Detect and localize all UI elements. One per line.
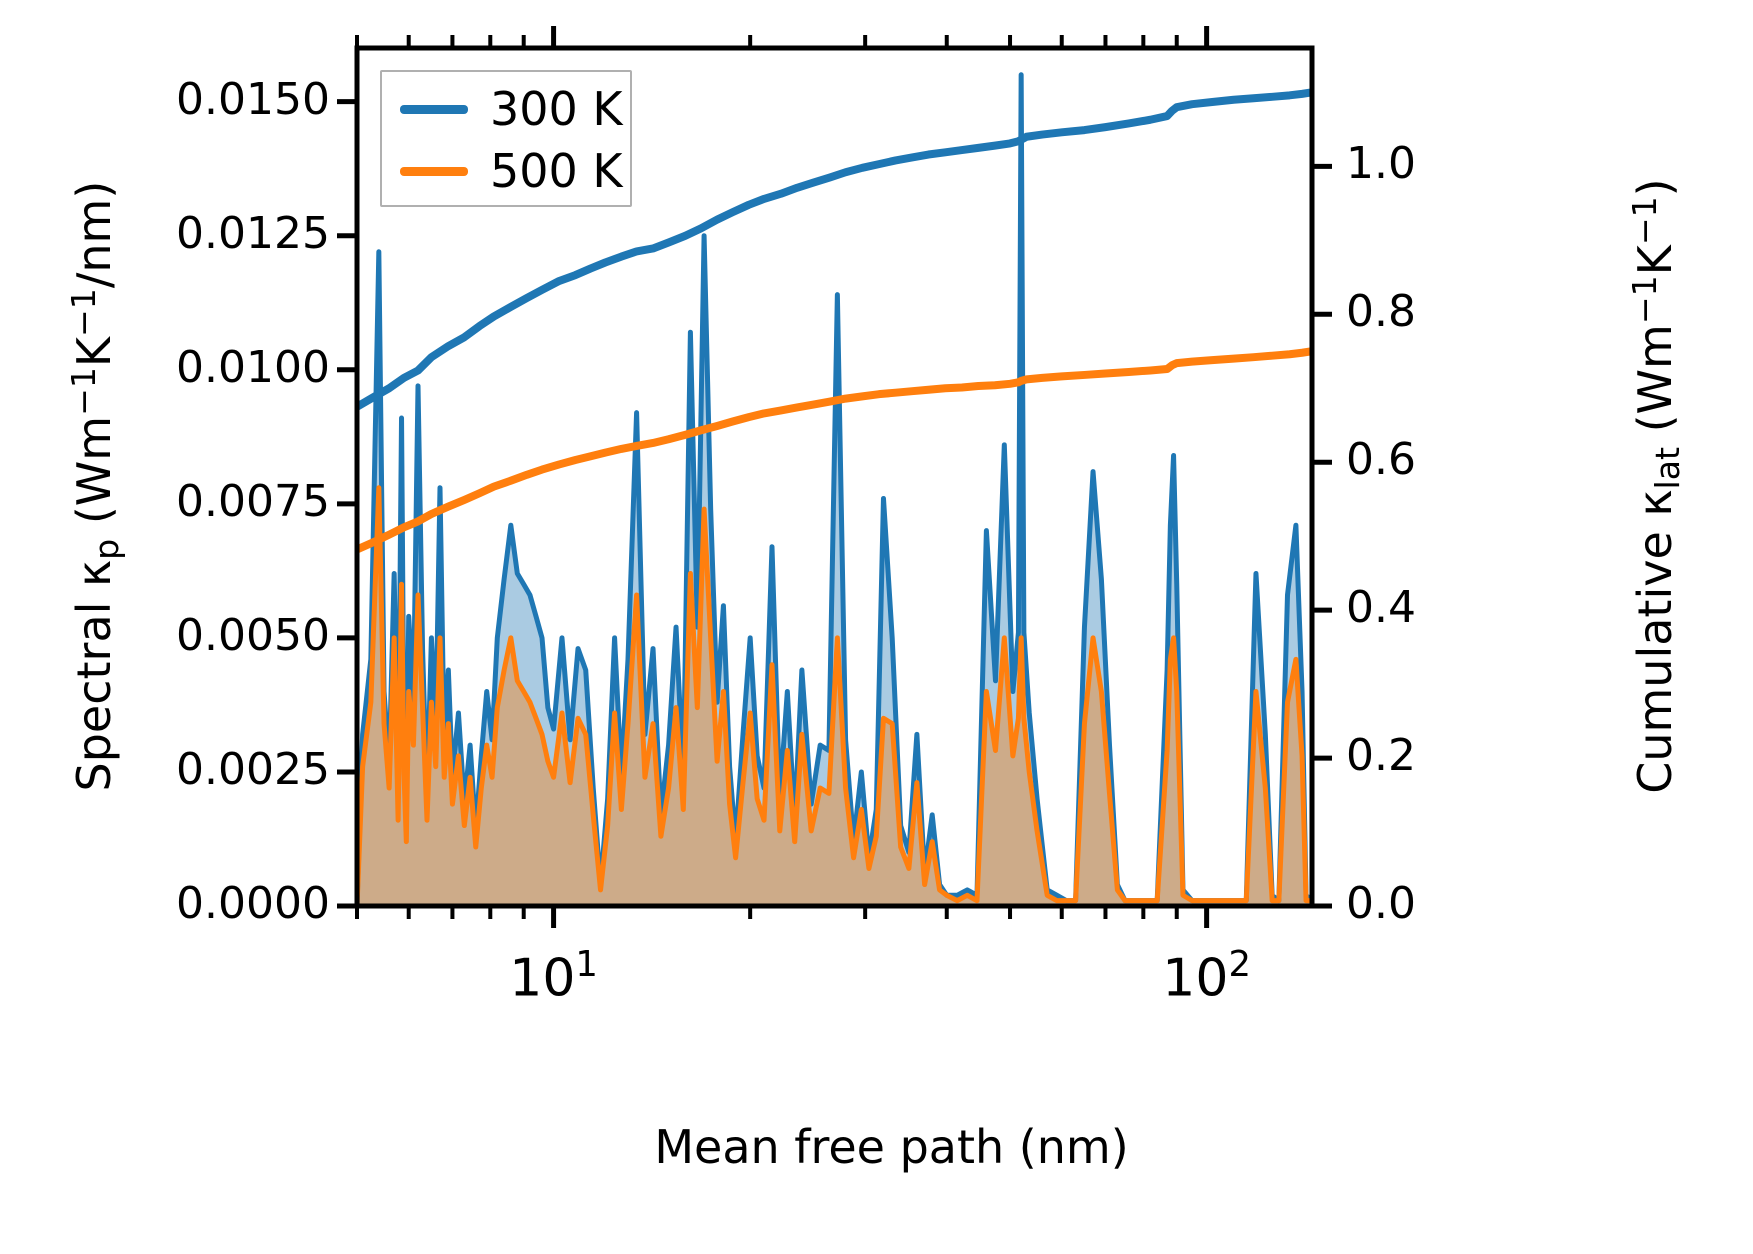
y-left-label-mid: K <box>67 337 121 367</box>
y-left-tick-2: 0.0050 <box>0 610 330 661</box>
y-right-label-close: ) <box>1628 178 1682 196</box>
line-swatch-icon <box>400 167 468 176</box>
y-right-tick-5: 1.0 <box>1346 138 1546 189</box>
y-right-tick-0: 0.0 <box>1346 878 1546 929</box>
legend-label-500k: 500 K <box>490 148 623 194</box>
y-right-label-mid: K <box>1628 245 1682 275</box>
x-tick-0: 101 <box>434 944 674 1008</box>
y-left-label-subscript: p <box>87 539 126 560</box>
y-left-tick-6: 0.0150 <box>0 74 330 125</box>
legend-label-300k: 300 K <box>490 86 623 132</box>
y-right-label-subscript: lat <box>1648 447 1687 489</box>
legend-item-300k[interactable]: 300 K <box>382 78 630 140</box>
figure-canvas: 0.00000.00250.00500.00750.01000.01250.01… <box>0 0 1753 1254</box>
y-right-label-unit-open: (Wm <box>1628 324 1682 447</box>
x-tick-base-1: 10 <box>1162 948 1228 1008</box>
x-tick-exponent-1: 2 <box>1228 944 1251 985</box>
legend-item-500k[interactable]: 500 K <box>382 140 630 202</box>
y-right-label-exp2: −1 <box>1625 196 1664 245</box>
y-right-tick-2: 0.4 <box>1346 582 1546 633</box>
y-right-tick-3: 0.6 <box>1346 434 1546 485</box>
y-left-tick-3: 0.0075 <box>0 476 330 527</box>
y-left-label-close: /nm) <box>67 181 121 288</box>
y-right-tick-4: 0.8 <box>1346 286 1546 337</box>
y-right-label-exp1: −1 <box>1625 275 1664 324</box>
y-left-tick-4: 0.0100 <box>0 342 330 393</box>
x-tick-base-0: 10 <box>509 948 575 1008</box>
legend[interactable]: 300 K 500 K <box>380 70 632 207</box>
x-tick-1: 102 <box>1087 944 1327 1008</box>
y-left-label-prefix: Spectral κ <box>67 560 121 792</box>
y-left-label-unit-open: (Wm <box>67 416 121 539</box>
y-left-tick-0: 0.0000 <box>0 878 330 929</box>
line-swatch-icon <box>400 105 468 114</box>
y-right-tick-1: 0.2 <box>1346 730 1546 781</box>
x-axis-label: Mean free path (nm) <box>0 1120 1753 1174</box>
y-left-tick-5: 0.0125 <box>0 208 330 259</box>
y-right-label-prefix: Cumulative κ <box>1628 490 1682 794</box>
x-tick-exponent-0: 1 <box>575 944 598 985</box>
y-axis-right-label: Cumulative κlat (Wm−1K−1) <box>1625 46 1687 926</box>
y-left-label-exp2: −1 <box>64 288 103 337</box>
y-axis-left-label: Spectral κp (Wm−1K−1/nm) <box>64 46 126 926</box>
y-left-label-exp1: −1 <box>64 367 103 416</box>
y-left-tick-1: 0.0025 <box>0 744 330 795</box>
